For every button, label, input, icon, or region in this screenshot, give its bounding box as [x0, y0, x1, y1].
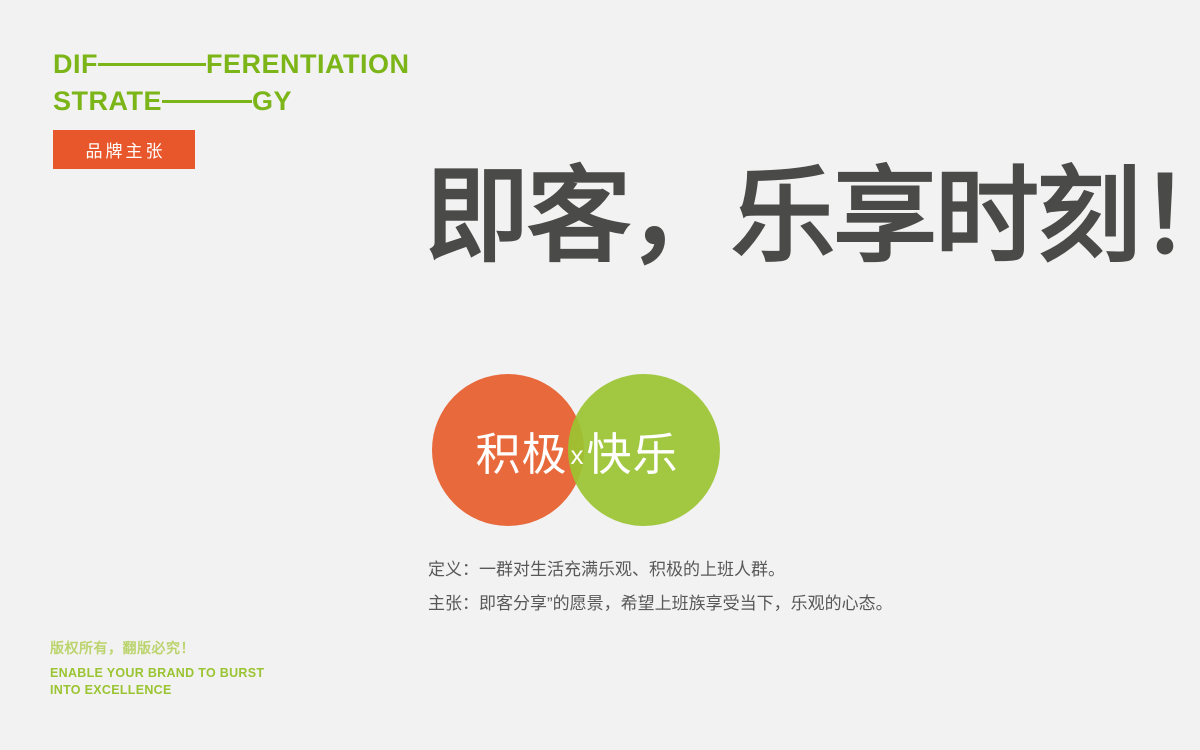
- lockup-rule-icon: [98, 63, 206, 66]
- lockup-text-strate: STRATE: [53, 85, 162, 118]
- body-copy: 定义：一群对生活充满乐观、积极的上班人群。 主张：即客分享”的愿景，希望上班族享…: [428, 553, 1128, 621]
- footer: 版权所有，翻版必究！ ENABLE YOUR BRAND TO BURST IN…: [50, 638, 380, 699]
- page-title: 即客，乐享时刻！: [425, 163, 1085, 303]
- lockup-line-strategy: STRATE GY: [53, 85, 473, 118]
- lockup-line-differentiation: DIF FERENTIATION: [53, 48, 473, 81]
- section-badge-label: 品牌主张: [83, 137, 166, 162]
- venn-label-group: 积极 x 快乐: [432, 374, 722, 526]
- lockup-text-dif: DIF: [53, 48, 98, 81]
- section-badge: 品牌主张: [53, 130, 195, 169]
- lockup-text-ferentiation: FERENTIATION: [206, 48, 410, 81]
- body-line-proposition: 主张：即客分享”的愿景，希望上班族享受当下，乐观的心态。: [428, 587, 1128, 621]
- footer-copyright: 版权所有，翻版必究！: [50, 638, 380, 659]
- brand-lockup: DIF FERENTIATION STRATE GY: [53, 48, 473, 118]
- body-line-definition: 定义：一群对生活充满乐观、积极的上班人群。: [428, 553, 1128, 587]
- lockup-rule-icon-2: [162, 100, 252, 103]
- footer-tagline-line2: INTO EXCELLENCE: [50, 682, 380, 699]
- venn-label-left: 积极: [475, 418, 567, 483]
- slide-canvas: DIF FERENTIATION STRATE GY 品牌主张 即客，乐享时刻！…: [0, 0, 1200, 750]
- venn-operator: x: [568, 440, 587, 471]
- lockup-text-gy: GY: [252, 85, 292, 118]
- footer-tagline: ENABLE YOUR BRAND TO BURST INTO EXCELLEN…: [50, 665, 380, 699]
- venn-label-right: 快乐: [587, 418, 679, 483]
- venn-diagram: 积极 x 快乐: [432, 374, 722, 526]
- footer-tagline-line1: ENABLE YOUR BRAND TO BURST: [50, 665, 380, 682]
